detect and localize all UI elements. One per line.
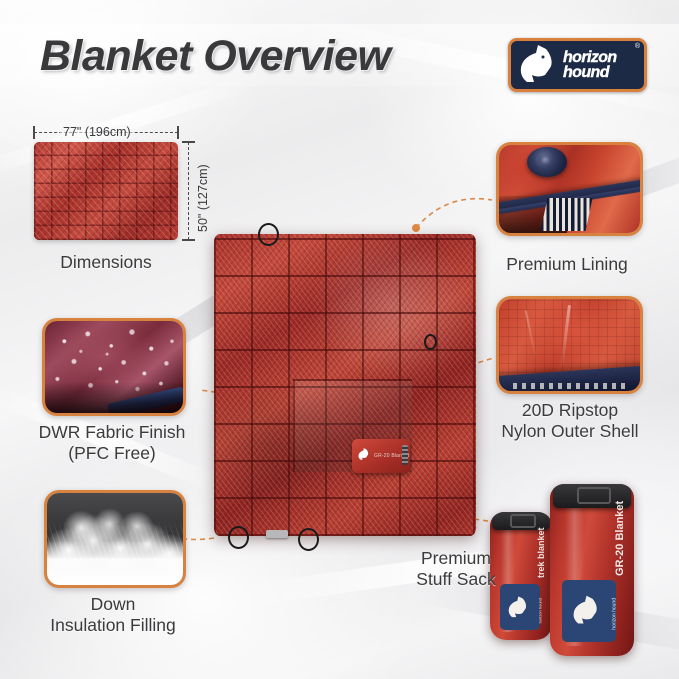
height-measure-line [188,142,189,240]
roll-top-clip [402,445,408,465]
product-hero-blanket: GR-20 Blanket [214,234,476,536]
height-measure-cap-bottom [182,239,195,241]
zipper-teeth [513,383,626,389]
feature-photo-dwr-finish [42,318,186,416]
caption-dimensions: Dimensions [26,252,186,273]
dim-photo-sheen [34,142,178,240]
caption-dwr-finish: DWR Fabric Finish (PFC Free) [14,422,210,464]
page-title: Blanket Overview [40,30,391,82]
brand-line-2: hound [563,65,639,80]
hound-head-icon [357,446,372,462]
feature-photo-down-filling [44,490,186,588]
product-tag [266,530,288,538]
brand-line-1: horizon [563,50,639,65]
width-measure-label: 77" (196cm) [60,125,134,139]
caption-premium-lining: Premium Lining [486,254,648,275]
width-measure-cap-right [177,126,179,139]
stuff-sack-large: horizon hound GR-20 Blanket [550,484,634,656]
product-infographic: Blanket Overview horizon hound ® 77" (19… [0,0,679,679]
registered-mark: ® [635,43,640,50]
caption-down-filling: Down Insulation Filling [20,594,206,636]
feature-photo-premium-lining [496,142,643,236]
hound-head-icon [516,44,564,84]
brand-logo: horizon hound ® [508,38,647,92]
dwr-shadow [45,382,183,413]
large-sack-label: GR-20 Blanket [614,501,626,576]
feature-photo-ripstop-shell [496,296,643,394]
attachment-loop [228,526,249,549]
snap-button-icon [527,147,566,177]
width-measure-cap-left [33,126,35,139]
attachment-loop [258,223,279,246]
attachment-loop [298,528,319,551]
hound-head-icon [570,590,606,630]
blanket-body [214,234,476,536]
lining-elastic-band [541,198,593,231]
height-measure-cap-top [182,141,195,143]
logo-patch: horizon hound [562,580,616,642]
down-wisps [47,493,183,585]
attachment-loop [424,334,437,350]
small-sack-label: trek blanket [536,527,546,578]
caption-stuff-sack: Premium Stuff Sack [392,548,520,590]
caption-ripstop-shell: 20D Ripstop Nylon Outer Shell [480,400,660,442]
hound-head-icon [506,592,533,622]
dimensions-thumbnail [34,142,178,240]
brand-wordmark: horizon hound [563,46,639,83]
height-measure-label: 50" (127cm) [196,164,210,232]
mini-stuff-sack: GR-20 Blanket [352,439,410,473]
logo-patch: horizon hound [500,584,540,630]
